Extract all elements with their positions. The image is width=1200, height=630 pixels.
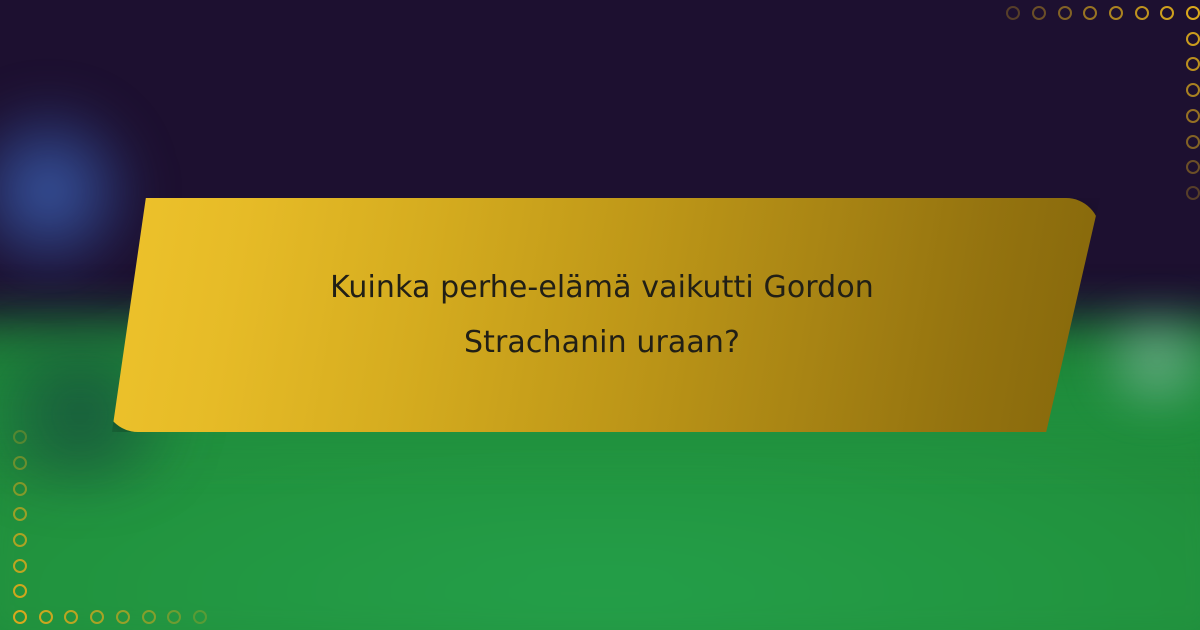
social-card-canvas: Kuinka perhe-elämä vaikutti Gordon Strac…	[0, 0, 1200, 630]
decorative-dot	[13, 559, 27, 573]
decorative-dot	[1032, 6, 1046, 20]
decorative-dot	[1006, 6, 1020, 20]
decorative-dot	[13, 533, 27, 547]
decorative-dot	[1186, 186, 1200, 200]
decorative-dot	[116, 610, 130, 624]
decorative-dot	[1058, 6, 1072, 20]
decorative-dot	[1135, 6, 1149, 20]
decorative-dot	[13, 430, 27, 444]
decorative-dot	[193, 610, 207, 624]
decorative-dot	[13, 456, 27, 470]
decorative-dot	[1186, 32, 1200, 46]
decorative-dot	[39, 610, 53, 624]
question-text: Kuinka perhe-elämä vaikutti Gordon Strac…	[104, 198, 1100, 432]
decorative-dot	[142, 610, 156, 624]
question-card: Kuinka perhe-elämä vaikutti Gordon Strac…	[104, 198, 1100, 432]
decorative-dot	[1109, 6, 1123, 20]
decorative-dot	[13, 482, 27, 496]
decorative-dot	[1186, 135, 1200, 149]
decorative-dot	[13, 610, 27, 624]
decorative-dot	[90, 610, 104, 624]
decorative-dot	[1186, 6, 1200, 20]
decorative-dot	[1186, 109, 1200, 123]
decorative-dot	[1186, 83, 1200, 97]
